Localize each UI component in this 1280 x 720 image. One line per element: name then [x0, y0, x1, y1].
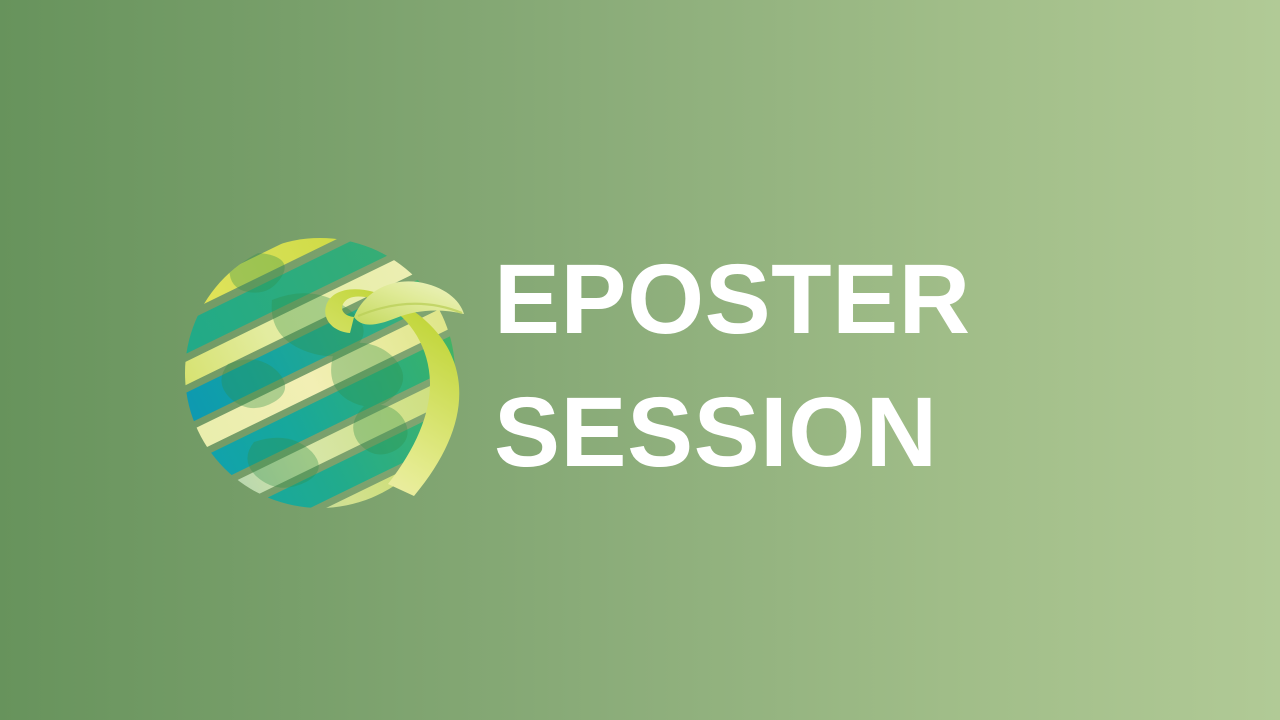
title-line-2: SESSION — [494, 365, 1174, 498]
slide-canvas: EPOSTER SESSION — [0, 0, 1280, 720]
title-line-1: EPOSTER — [494, 232, 1174, 365]
page-title: EPOSTER SESSION — [494, 232, 1174, 498]
globe-leaf-logo — [168, 196, 468, 522]
